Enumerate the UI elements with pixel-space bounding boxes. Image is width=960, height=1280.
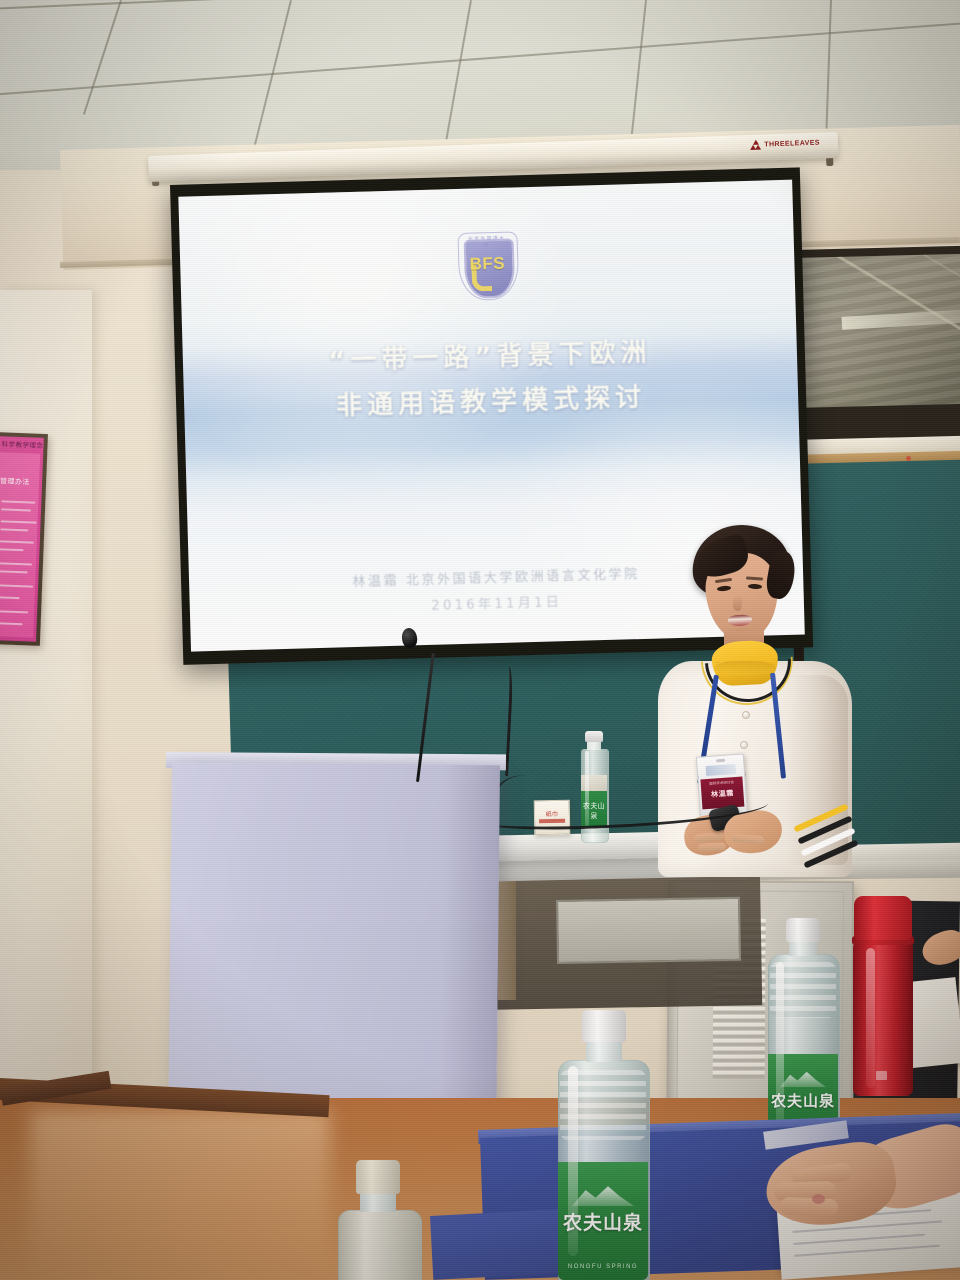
speaker-finger (698, 842, 726, 851)
water-bottle-bottom-left[interactable] (336, 1160, 422, 1280)
bottle-cap (786, 918, 820, 942)
poster-body: 管理办法 (0, 452, 40, 637)
wall-glass-panel (798, 254, 960, 408)
audience-fingernail (812, 1194, 825, 1204)
mountain-icon (572, 1184, 634, 1206)
sweater-button (742, 711, 750, 719)
left-wall-column (0, 290, 92, 1120)
water-bottle-foreground[interactable]: 农夫山泉 NONGFU SPRING (556, 1010, 650, 1280)
poster-title-text: 管理办法 (0, 476, 41, 488)
glass-texture (798, 254, 960, 408)
bottle-neck (789, 940, 817, 956)
ceiling-grid-line (0, 0, 960, 12)
bottle-neck (587, 741, 601, 750)
bottle-cap (582, 1010, 626, 1042)
audience-hand (766, 1132, 960, 1236)
bottle-body (338, 1210, 422, 1280)
badge-event-text: 国际学术研讨会 (701, 779, 743, 787)
projector-brand-text: THREELEAVES (764, 139, 820, 148)
wall-poster-frame: 科学教学理念 管理办法 (0, 432, 48, 646)
bottle-cap (585, 731, 603, 742)
three-diamond-icon (750, 140, 761, 150)
crest-letters: BFS (466, 254, 509, 275)
audience-finger (780, 1197, 839, 1217)
badge-logo-icon (706, 764, 737, 776)
red-thermos-flask[interactable] (850, 896, 916, 1096)
bottle-highlight (776, 962, 784, 1132)
bottle-highlight (568, 1066, 578, 1256)
bottle-neck (360, 1192, 396, 1212)
badge-slot (716, 759, 725, 763)
thermos-highlight (866, 948, 875, 1088)
ceiling-grid-line (0, 18, 960, 98)
thermos-cap[interactable] (854, 896, 912, 940)
sweater-button (740, 741, 748, 749)
cable (490, 772, 579, 840)
bottle-neck (586, 1040, 622, 1062)
mountain-icon (780, 1070, 826, 1087)
classroom-photo: 科学教学理念 管理办法 THREELEAVES (0, 0, 960, 1280)
ceiling-grid-line (83, 0, 122, 115)
bottle-cap (356, 1160, 400, 1194)
slide-title-block: “一带一路”背景下欧洲 非通用语教学模式探讨 (182, 327, 798, 434)
bottle-sub-text: NONGFU SPRING (558, 1264, 648, 1270)
projector-brand: THREELEAVES (750, 138, 820, 150)
desk-equipment-panel (556, 897, 741, 964)
poster-header-text: 科学教学理念 (0, 438, 44, 450)
bfsu-crest-icon: 北京外国语大学 BFS (456, 229, 518, 303)
speaker-nose (733, 595, 742, 611)
water-bottle-middle[interactable]: 农夫山泉 NONGFU SPRING (766, 918, 840, 1150)
floor-reflection (30, 1110, 330, 1280)
thermos-label (876, 1071, 887, 1080)
wall-glass-panel-frame (792, 246, 960, 450)
wall-poster: 科学教学理念 管理办法 (0, 436, 44, 642)
desk-leg (498, 880, 516, 1000)
